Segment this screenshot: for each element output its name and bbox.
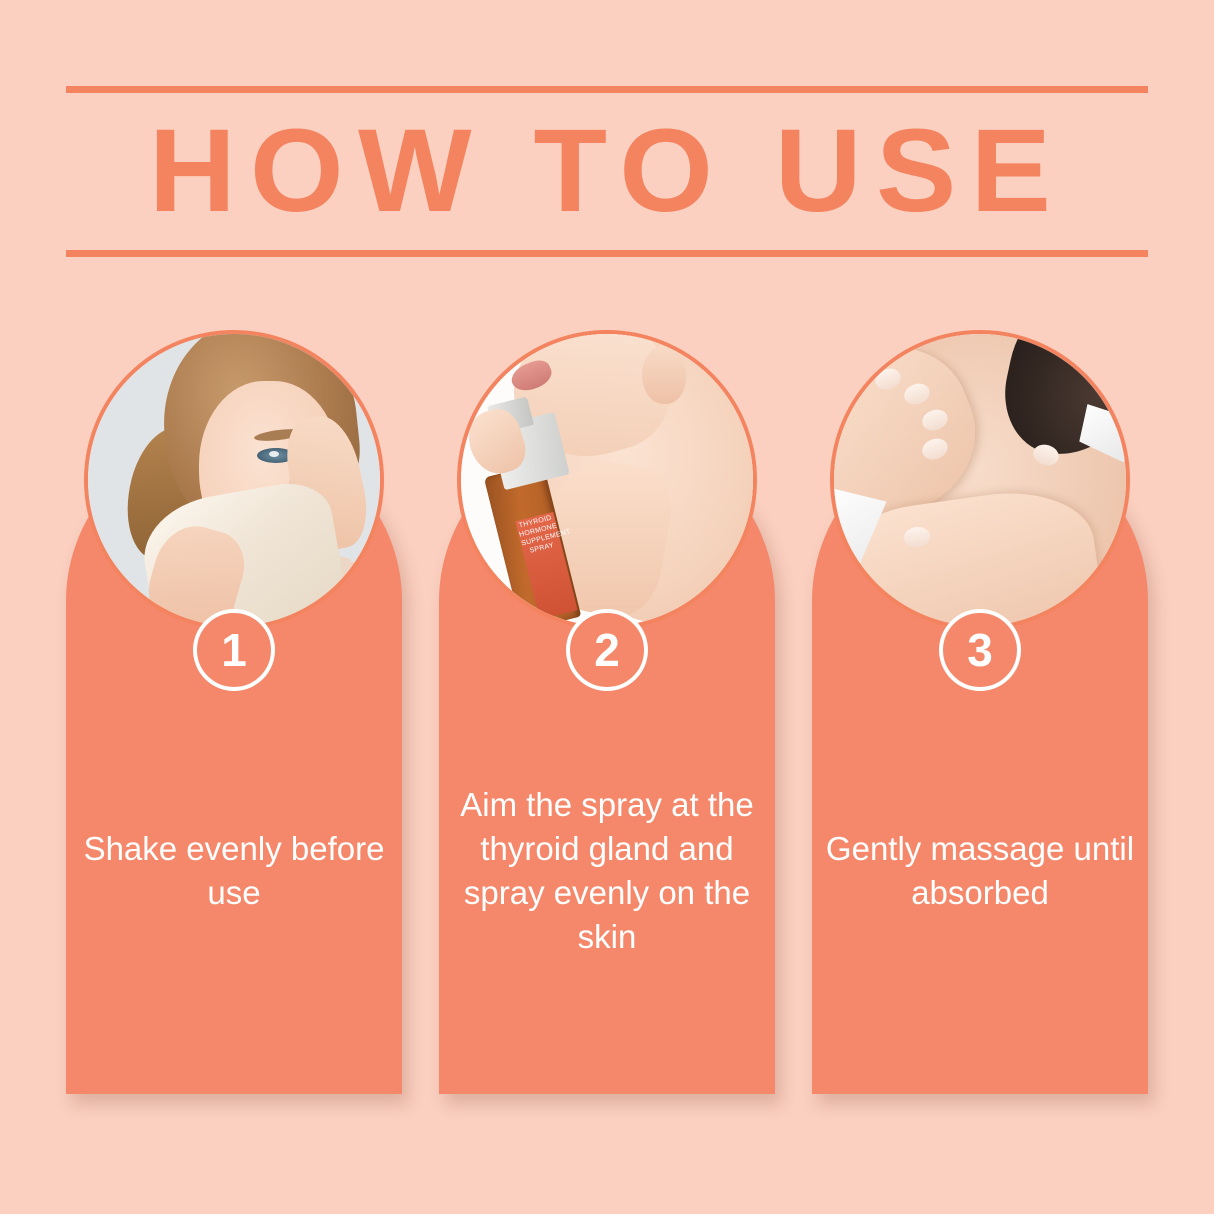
step-card-2[interactable]: THYROID HORMONE SUPPLEMENT SPRAY 2 Aim t… <box>439 330 775 1094</box>
step-number-badge-3: 3 <box>939 609 1021 691</box>
step-caption-2: Aim the spray at the thyroid gland and s… <box>447 783 767 959</box>
step-photo-3 <box>830 330 1130 630</box>
step-card-1[interactable]: 1 Shake evenly before use <box>66 330 402 1094</box>
step-caption-3: Gently massage until absorbed <box>820 827 1140 915</box>
photo-scene <box>88 334 380 626</box>
step-photo-1 <box>84 330 384 630</box>
ear-shape <box>642 346 686 404</box>
step-number-badge-1: 1 <box>193 609 275 691</box>
step-card-3[interactable]: 3 Gently massage until absorbed <box>812 330 1148 1094</box>
step-number-badge-2: 2 <box>566 609 648 691</box>
step-caption-1: Shake evenly before use <box>74 827 394 915</box>
bottle-label: THYROID HORMONE SUPPLEMENT SPRAY <box>515 513 577 620</box>
photo-scene: THYROID HORMONE SUPPLEMENT SPRAY <box>461 334 753 626</box>
photo-scene <box>834 334 1126 626</box>
steps-list: 1 Shake evenly before use THYROID HORMON… <box>0 0 1214 1214</box>
step-photo-2: THYROID HORMONE SUPPLEMENT SPRAY <box>457 330 757 630</box>
